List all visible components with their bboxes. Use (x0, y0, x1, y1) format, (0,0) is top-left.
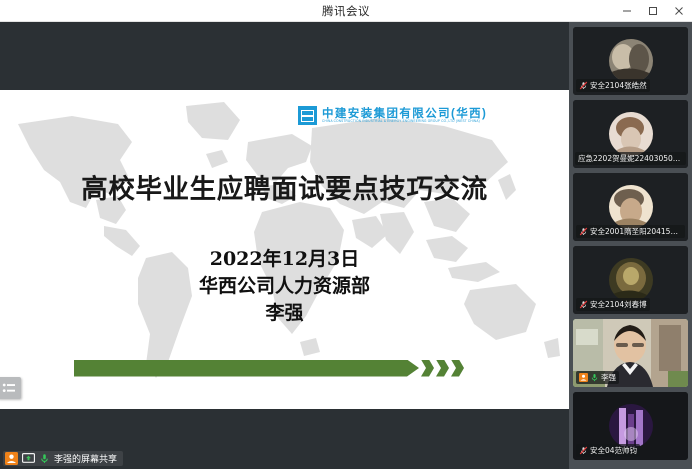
host-person-icon (5, 452, 18, 465)
chevron-2-icon (436, 360, 449, 377)
participant-rail[interactable]: 安全2104张皓然 应急2202贺曼妮22403050230 (569, 22, 692, 469)
slide-title: 高校毕业生应聘面试要点技巧交流 (0, 174, 569, 205)
participant-name: 安全2104张皓然 (590, 80, 647, 91)
window-title: 腾讯会议 (78, 3, 614, 19)
host-person-icon (579, 373, 588, 382)
mic-muted-icon (579, 446, 588, 455)
avatar-image (609, 258, 653, 302)
company-name-en: CHINA CONSTRUCTION INDUSTRIAL & ENERGY E… (322, 120, 487, 124)
avatar (609, 39, 653, 83)
avatar (609, 404, 653, 448)
company-logo-mark-icon (298, 106, 317, 125)
presentation-slide: 中建安装集团有限公司(华西) CHINA CONSTRUCTION INDUST… (0, 90, 569, 409)
avatar (609, 112, 653, 156)
shared-screen-stage[interactable]: 中建安装集团有限公司(华西) CHINA CONSTRUCTION INDUST… (0, 22, 569, 447)
status-bar: 李强的屏幕共享 (0, 447, 569, 469)
avatar (609, 258, 653, 302)
maximize-button[interactable] (640, 0, 666, 22)
screen-share-label: 李强的屏幕共享 (54, 452, 117, 465)
minimize-button[interactable] (614, 0, 640, 22)
avatar-image (609, 39, 653, 83)
mic-muted-icon (579, 300, 588, 309)
company-logo: 中建安装集团有限公司(华西) CHINA CONSTRUCTION INDUST… (298, 106, 487, 125)
green-arrow-decoration (74, 359, 464, 377)
slide-subtitle-line-1: 2022年12月3日 (0, 246, 569, 273)
participant-name: 安全2104刘春博 (590, 299, 647, 310)
participant-tile[interactable]: 安全2001隋圣阳2041501... (573, 173, 688, 241)
slide-subtitle-line-2: 华西公司人力资源部 (0, 273, 569, 300)
mic-on-icon (39, 453, 50, 464)
minimize-icon (622, 6, 632, 16)
maximize-icon (648, 6, 658, 16)
title-bar: 腾讯会议 (0, 0, 692, 22)
tencent-meeting-window: 腾讯会议 (0, 0, 692, 469)
participant-tile[interactable]: 安全04范帅钧 (573, 392, 688, 460)
close-button[interactable] (666, 0, 692, 22)
mic-muted-icon (579, 227, 588, 236)
participant-nameplate: 李强 (576, 371, 619, 384)
participant-tile[interactable]: 应急2202贺曼妮22403050230 (573, 100, 688, 168)
close-icon (674, 6, 684, 16)
chevron-3-icon (451, 360, 464, 377)
participant-nameplate: 安全2001隋圣阳2041501... (576, 225, 685, 238)
mic-muted-icon (579, 81, 588, 90)
participant-nameplate: 安全04范帅钧 (576, 444, 640, 457)
avatar-image (609, 185, 653, 229)
participant-nameplate: 安全2104刘春博 (576, 298, 650, 311)
avatar-image (609, 404, 653, 448)
screen-share-icon (22, 452, 35, 465)
participant-name: 安全2001隋圣阳2041501... (590, 226, 682, 237)
mic-on-icon (590, 373, 599, 382)
participant-nameplate: 应急2202贺曼妮22403050230 (575, 152, 686, 165)
slide-subtitle: 2022年12月3日 华西公司人力资源部 李强 (0, 246, 569, 327)
participant-name: 应急2202贺曼妮22403050230 (578, 153, 683, 164)
participant-list-toggle-button[interactable] (0, 377, 21, 399)
avatar (609, 185, 653, 229)
chevron-1-icon (421, 360, 434, 377)
window-controls (614, 0, 692, 22)
participant-name: 安全04范帅钧 (590, 445, 637, 456)
slide-subtitle-line-3: 李强 (0, 300, 569, 327)
participant-tile[interactable]: 安全2104刘春博 (573, 246, 688, 314)
list-icon (2, 382, 16, 394)
participant-tile-active-speaker[interactable]: 李强 (573, 319, 688, 387)
arrow-bar-shape (74, 360, 419, 377)
participant-name: 李强 (601, 372, 616, 383)
screen-share-status[interactable]: 李强的屏幕共享 (3, 451, 123, 466)
participant-nameplate: 安全2104张皓然 (576, 79, 650, 92)
participant-tile[interactable]: 安全2104张皓然 (573, 27, 688, 95)
avatar-image (609, 112, 653, 156)
